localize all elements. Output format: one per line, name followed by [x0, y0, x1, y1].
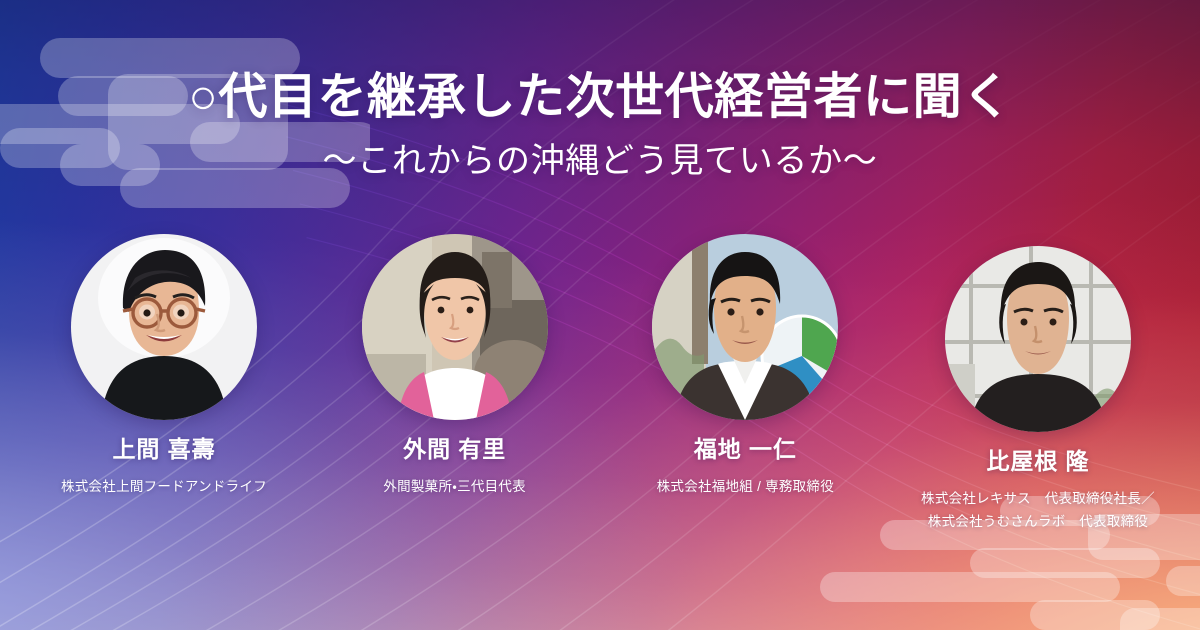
- avatar: [652, 234, 838, 420]
- portrait-hiyane-takashi-image: [945, 246, 1131, 432]
- page-title: ○代目を継承した次世代経営者に聞く: [0, 70, 1200, 125]
- headline-block: ○代目を継承した次世代経営者に聞く 〜これからの沖縄どう見ているか〜: [0, 70, 1200, 182]
- speaker-card: 比屋根 隆 株式会社レキサス 代表取締役社長／ 株式会社うむさんラボ 代表取締役: [904, 246, 1172, 533]
- avatar: [945, 246, 1131, 432]
- speaker-list: 上間 喜壽 株式会社上間フードアンドライフ: [0, 234, 1200, 521]
- event-banner: ○代目を継承した次世代経営者に聞く 〜これからの沖縄どう見ているか〜: [0, 0, 1200, 630]
- speaker-org: 株式会社福地組 / 専務取締役: [611, 475, 879, 498]
- speaker-name: 福地 一仁: [611, 436, 879, 464]
- speaker-org-line: 株式会社レキサス 代表取締役社長／: [904, 487, 1172, 510]
- speaker-org: 外間製菓所・三代目代表: [321, 475, 589, 498]
- portrait-fukuchi-kazuhito-image: [652, 234, 838, 420]
- speaker-name: 外間 有里: [321, 436, 589, 464]
- speaker-org-line: 外間製菓所・三代目代表: [321, 475, 589, 498]
- avatar: [71, 234, 257, 420]
- speaker-card: 上間 喜壽 株式会社上間フードアンドライフ: [30, 234, 298, 521]
- avatar: [362, 234, 548, 420]
- speaker-card: 福地 一仁 株式会社福地組 / 専務取締役: [611, 234, 879, 521]
- speaker-org-line: 株式会社上間フードアンドライフ: [30, 475, 298, 498]
- page-subtitle: 〜これからの沖縄どう見ているか〜: [0, 141, 1200, 182]
- speaker-org: 株式会社レキサス 代表取締役社長／ 株式会社うむさんラボ 代表取締役: [904, 487, 1172, 533]
- speaker-org: 株式会社上間フードアンドライフ: [30, 475, 298, 498]
- portrait-hoka-yuri-image: [362, 234, 548, 420]
- portrait-uema-kiju-image: [71, 234, 257, 420]
- speaker-name: 上間 喜壽: [30, 436, 298, 464]
- speaker-card: 外間 有里 外間製菓所・三代目代表: [321, 234, 589, 521]
- speaker-name: 比屋根 隆: [904, 448, 1172, 476]
- speaker-org-line: 株式会社福地組 / 専務取締役: [611, 475, 879, 498]
- speaker-org-line: 株式会社うむさんラボ 代表取締役: [904, 510, 1172, 533]
